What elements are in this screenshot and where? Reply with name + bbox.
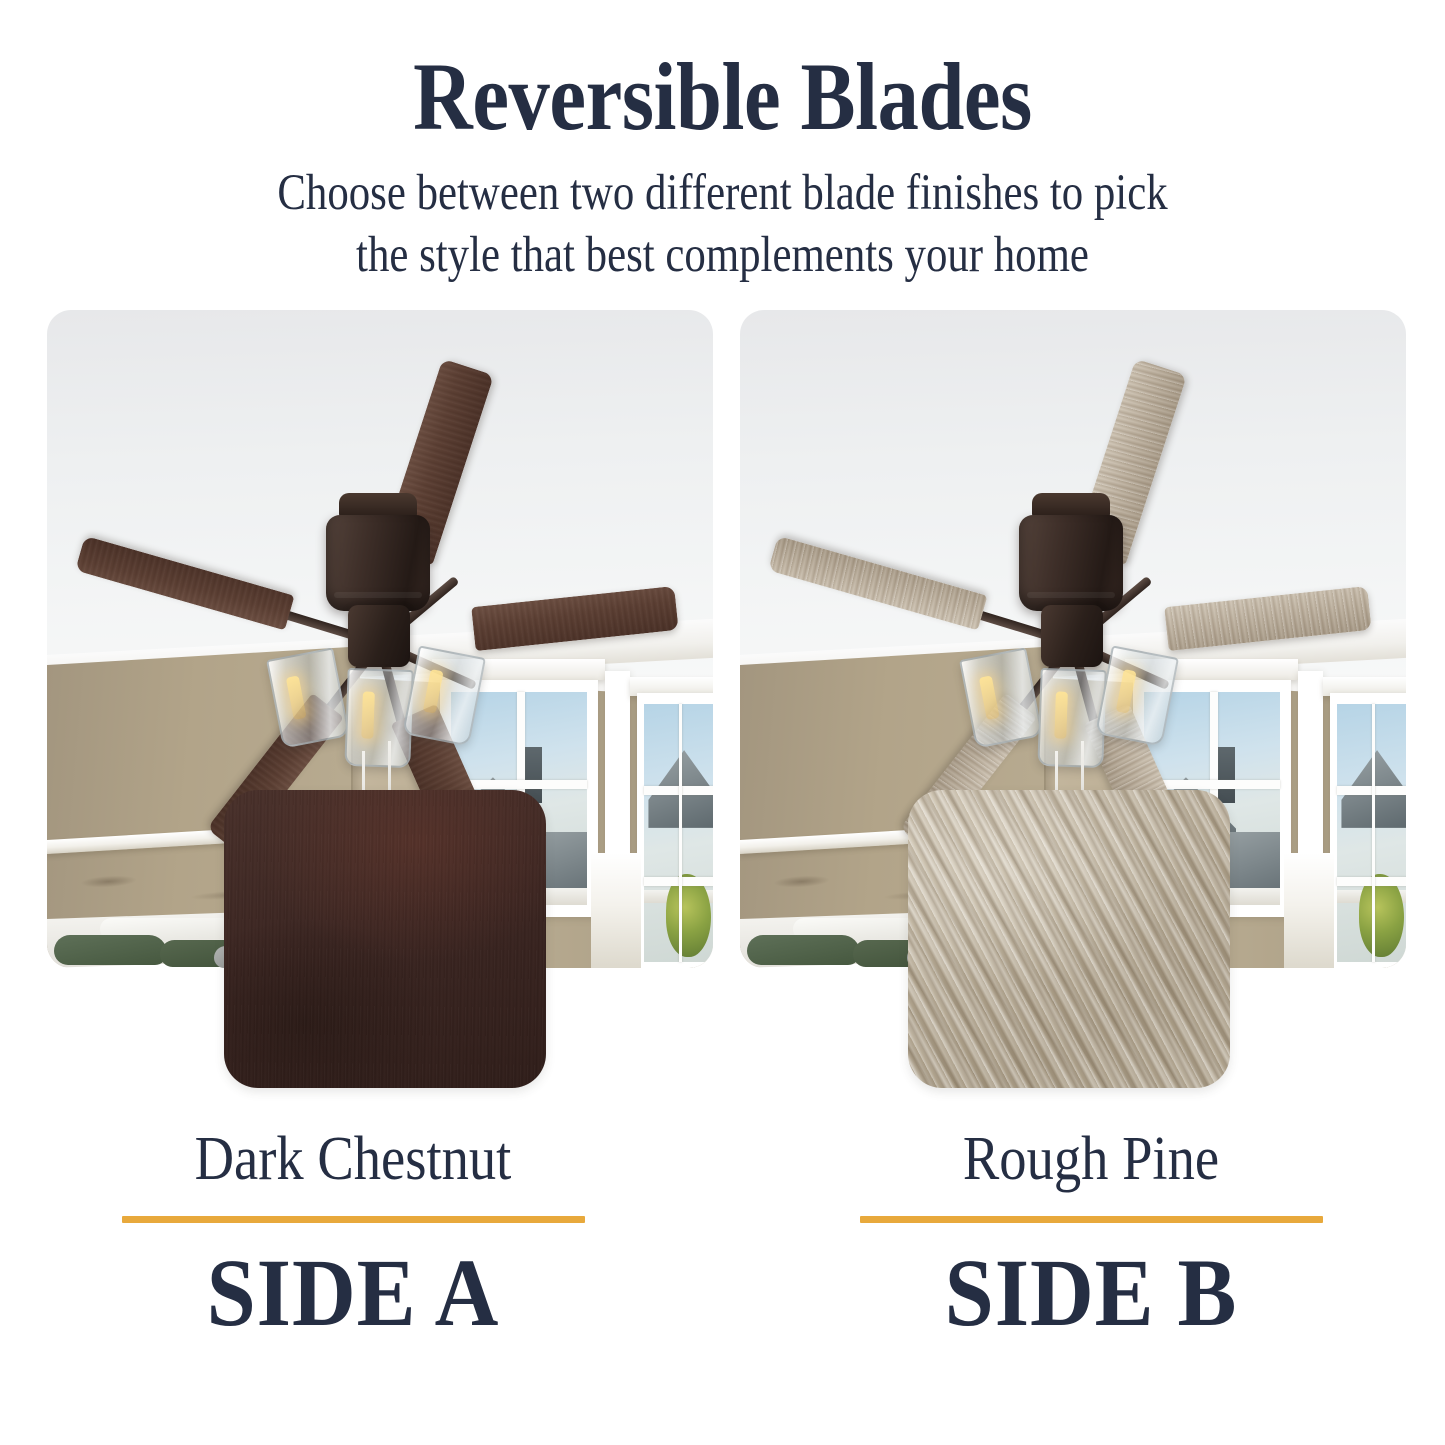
light-shade [344, 668, 413, 768]
finish-name-side-b: Rough Pine [798, 1128, 1384, 1190]
caption-side-a: Dark Chestnut SIDE A [20, 1128, 686, 1341]
subtitle-line-1: Choose between two different blade finis… [116, 162, 1330, 224]
header: Reversible Blades Choose between two dif… [0, 0, 1445, 286]
finish-name-side-a: Dark Chestnut [60, 1128, 646, 1190]
gold-divider [122, 1216, 585, 1223]
fan-motor-housing [1019, 515, 1123, 611]
rough-pine-swatch [908, 790, 1230, 1088]
fan-blade [768, 536, 987, 631]
fan-hub [1041, 605, 1103, 667]
panel-side-a [47, 310, 713, 968]
page-title: Reversible Blades [101, 0, 1344, 146]
light-shade [266, 647, 350, 748]
page-subtitle: Choose between two different blade finis… [116, 146, 1330, 286]
fan-blade [75, 536, 294, 631]
infographic-page: Reversible Blades Choose between two dif… [0, 0, 1445, 1445]
side-label-a: SIDE A [47, 1223, 660, 1341]
light-shade [959, 647, 1043, 748]
fan-motor-housing [326, 515, 430, 611]
dark-chestnut-swatch [224, 790, 546, 1088]
subtitle-line-2: the style that best complements your hom… [116, 224, 1330, 286]
caption-side-b: Rough Pine SIDE B [758, 1128, 1424, 1341]
fan-blade [471, 586, 678, 651]
fan-hub [348, 605, 410, 667]
panel-side-b [740, 310, 1406, 968]
gold-divider [860, 1216, 1323, 1223]
side-label-b: SIDE B [785, 1223, 1398, 1341]
fan-blade [1164, 586, 1371, 651]
light-shade [1037, 668, 1106, 768]
